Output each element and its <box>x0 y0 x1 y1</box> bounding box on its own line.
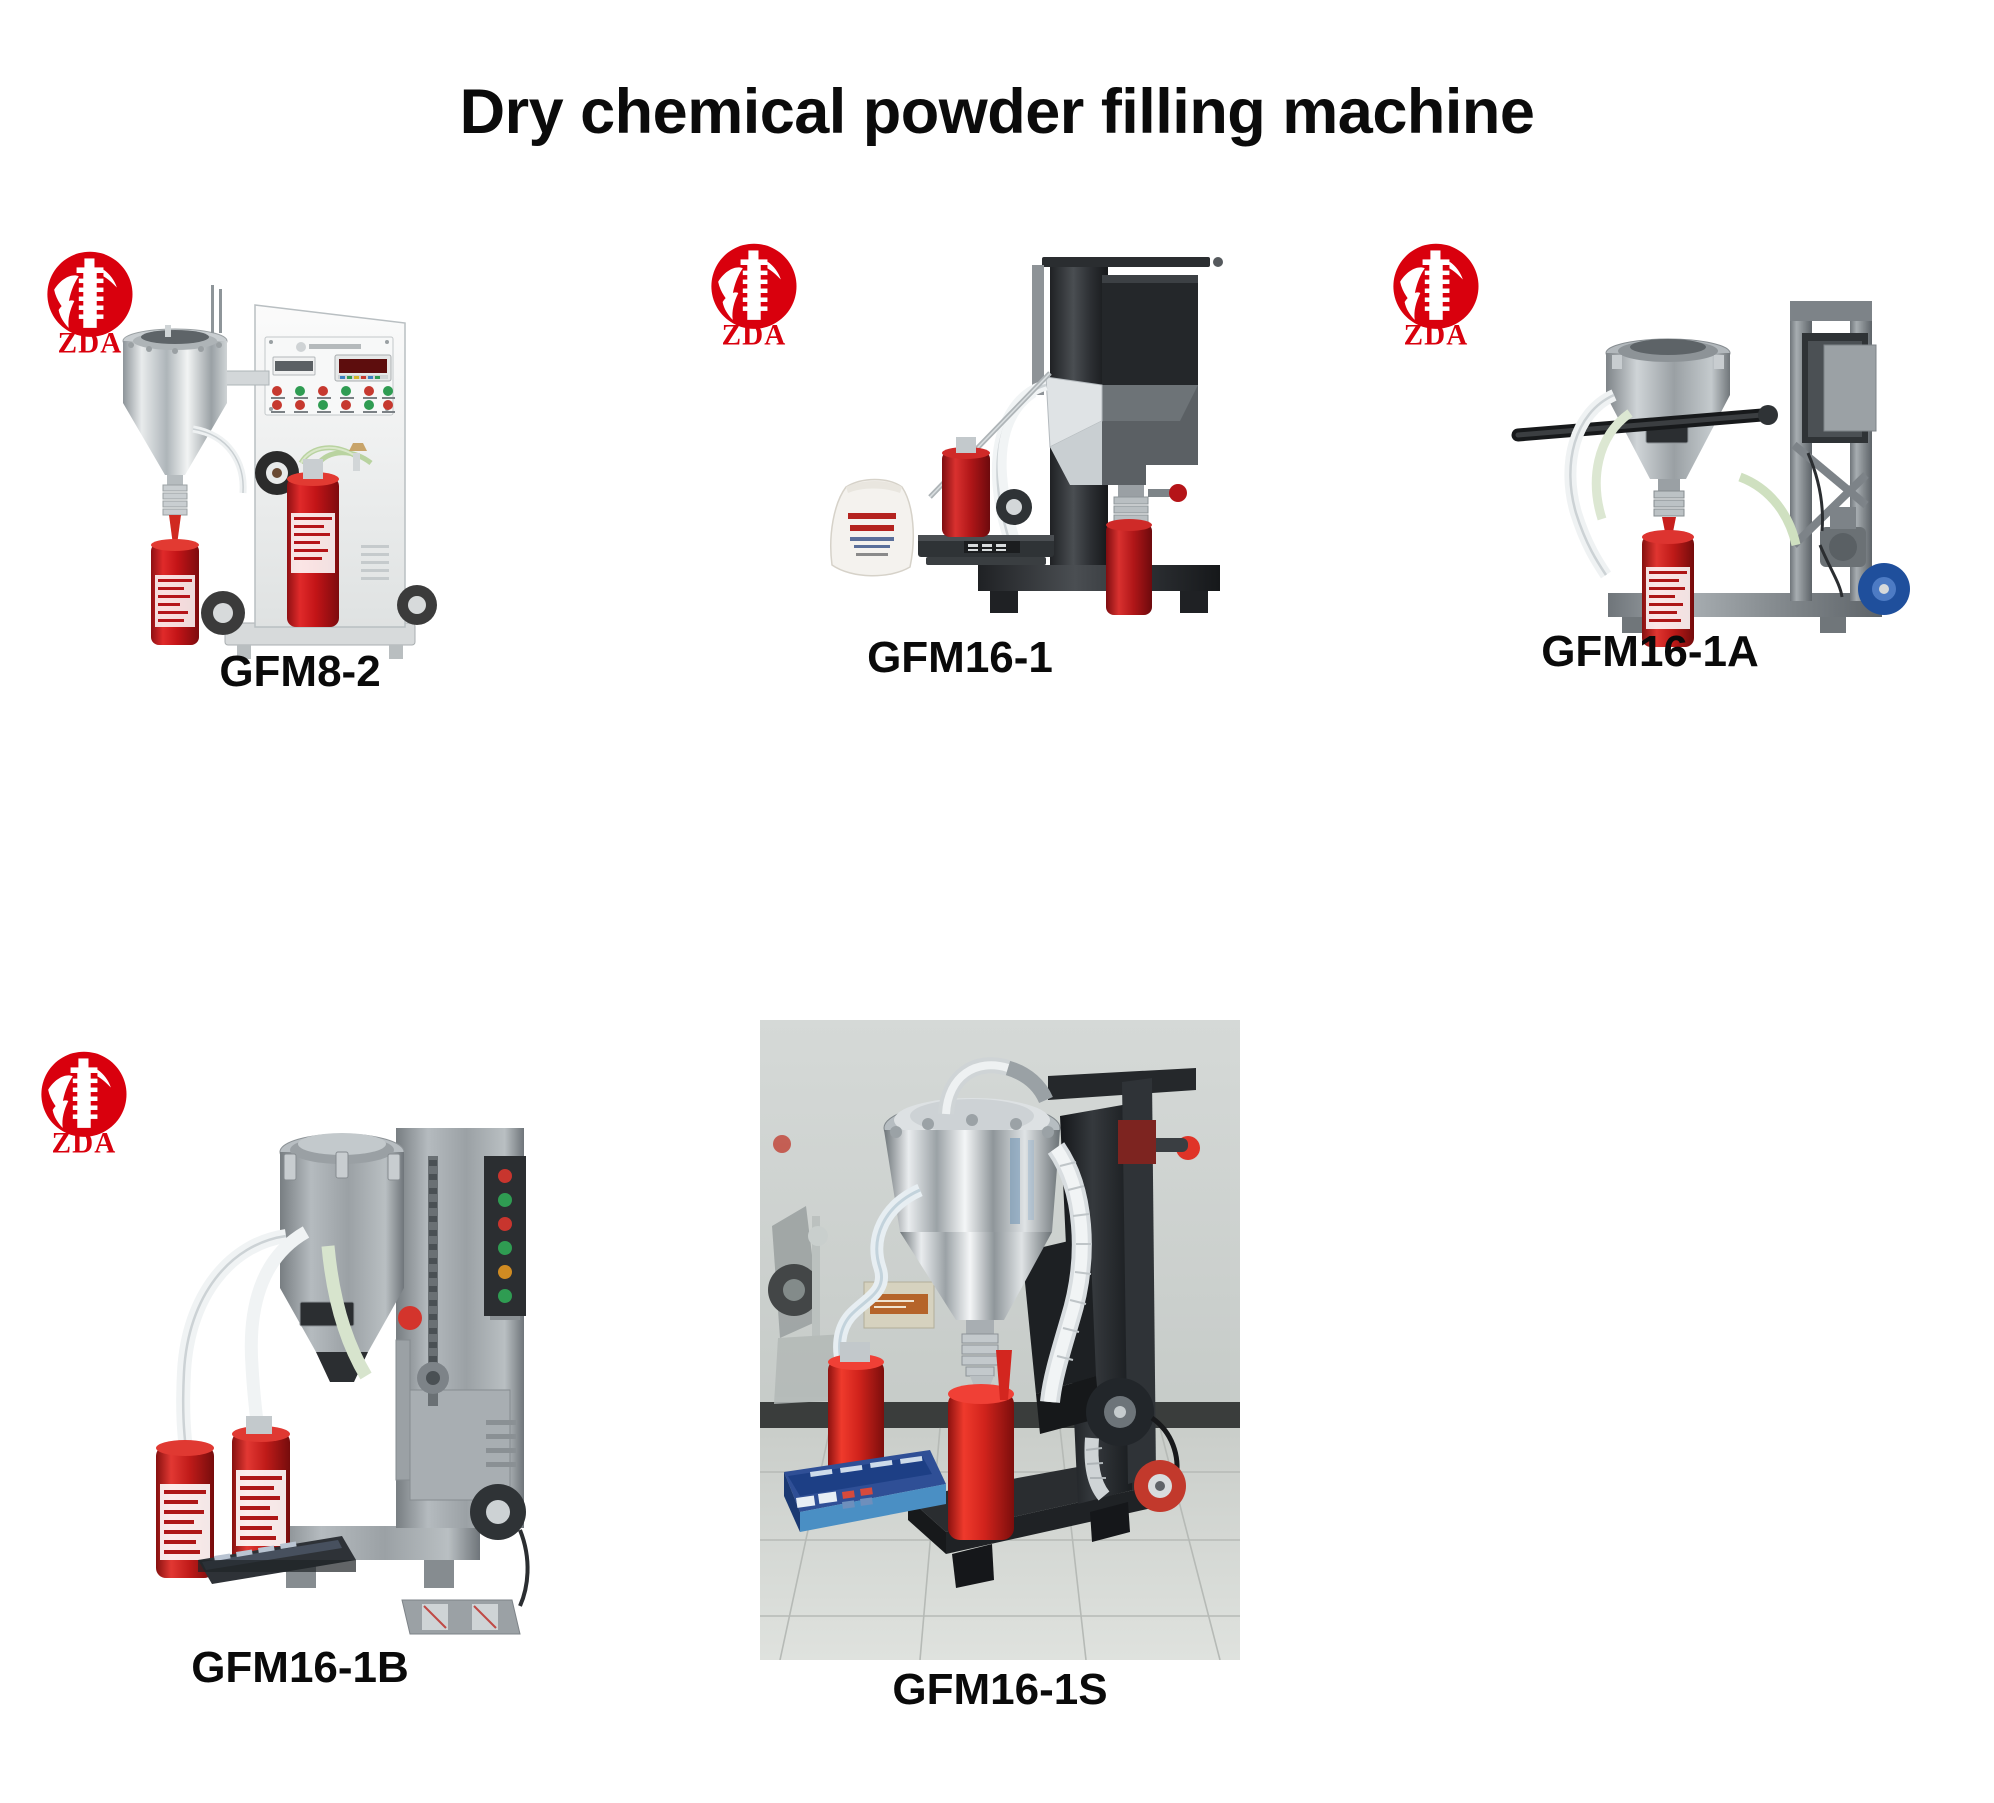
product-label-gfm16-1: GFM16-1 <box>650 633 1270 683</box>
product-card-gfm8-2[interactable]: ZDA <box>20 235 580 725</box>
product-gallery-page: Dry chemical powder filling machine <box>0 0 1994 1803</box>
product-image-gfm16-1a <box>1490 245 1960 665</box>
product-card-gfm16-1[interactable]: ZDA <box>650 235 1270 725</box>
product-image-gfm8-2 <box>105 245 525 685</box>
svg-text:ZDA: ZDA <box>1404 320 1469 349</box>
product-label-gfm16-1s: GFM16-1S <box>650 1665 1350 1715</box>
product-card-gfm16-1s[interactable]: GFM16-1S <box>650 1020 1350 1720</box>
product-label-gfm16-1a: GFM16-1A <box>1330 627 1970 677</box>
product-image-gfm16-1 <box>750 235 1270 665</box>
product-card-gfm16-1b[interactable]: ZDA <box>20 1045 580 1725</box>
zda-logo-icon: ZDA <box>1380 237 1492 349</box>
product-image-gfm16-1s <box>760 1020 1240 1660</box>
product-label-gfm8-2: GFM8-2 <box>20 647 580 697</box>
product-label-gfm16-1b: GFM16-1B <box>20 1643 580 1693</box>
page-title: Dry chemical powder filling machine <box>0 76 1994 148</box>
product-card-gfm16-1a[interactable]: ZDA <box>1330 235 1970 725</box>
product-image-gfm16-1b <box>80 1060 560 1640</box>
